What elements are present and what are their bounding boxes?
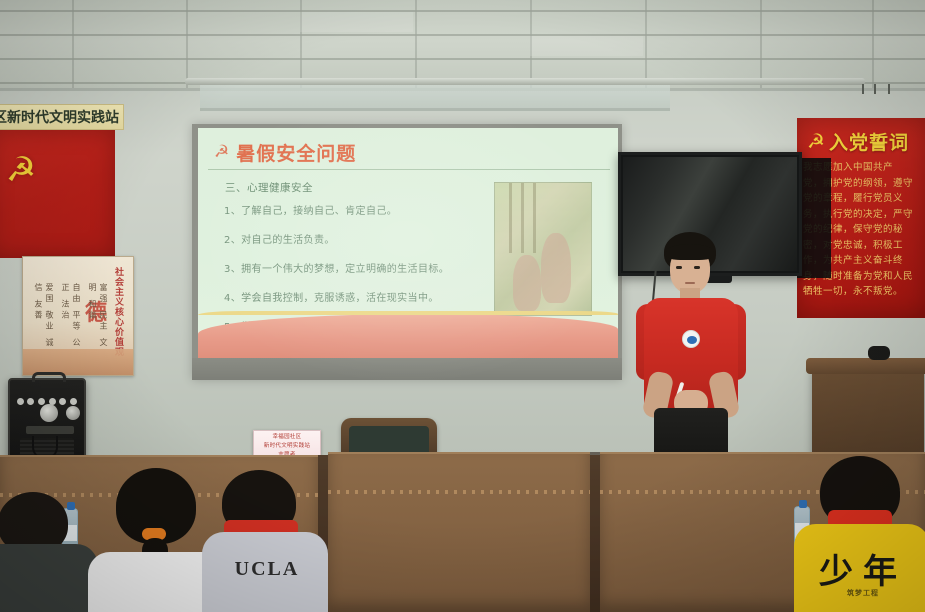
core-values-columns: 富强 民主 文明 和谐 自由 平等 公正 法治 爱国 敬业 诚信 友善: [33, 283, 109, 353]
slide-bullet: 4、学会自我控制，克服诱惑，活在现实当中。: [224, 289, 500, 304]
curtain-rail: [185, 78, 865, 85]
speaker-display: [26, 426, 74, 434]
presenter-eye-left: [676, 266, 682, 269]
slide-bullet: 1、了解自己，接纳自己、肯定自己。: [224, 202, 500, 217]
photo-scene: 区新时代文明实践站 ☭ 社会主义核心价值观 德 富强 民主 文明 和谐 自由 平…: [0, 0, 925, 612]
window-valance: [200, 85, 670, 111]
presentation-slide: ☭ 暑假安全问题 三、心理健康安全 1、了解自己，接纳自己、肯定自己。 2、对自…: [198, 128, 618, 358]
presenter-eye-right: [694, 266, 700, 269]
lectern-top: [806, 358, 925, 374]
slide-title: 暑假安全问题: [236, 139, 356, 166]
presenter: [630, 232, 752, 462]
shirt-text: 少年: [798, 544, 925, 593]
slide-photo: [494, 182, 592, 316]
community-station-sign-text: 区新时代文明实践站: [0, 107, 119, 127]
party-flag-icon: ☭: [214, 144, 229, 161]
slide-bullet: 3、拥有一个伟大的梦想，定立明确的生活目标。: [224, 260, 500, 275]
screen-bottom-bar: [192, 358, 622, 380]
student-body: [0, 544, 98, 612]
core-values-poster: 社会主义核心价值观 德 富强 民主 文明 和谐 自由 平等 公正 法治 爱国 敬…: [22, 256, 134, 376]
table-sign-line: 新时代文明实践站: [264, 441, 310, 449]
slide-title-row: ☭ 暑假安全问题: [214, 138, 604, 166]
speaker-handle: [32, 372, 66, 382]
community-station-sign: 区新时代文明实践站: [0, 104, 124, 130]
presenter-fringe: [666, 244, 714, 260]
bench-row-center: [328, 452, 590, 612]
student-yellow-shaonian: 少年 筑梦工程: [798, 456, 925, 612]
projection-screen: ☭ 暑假安全问题 三、心理健康安全 1、了解自己，接纳自己、肯定自己。 2、对自…: [192, 124, 622, 380]
slide-decorative-band: [198, 314, 618, 358]
volunteer-logo-badge: [682, 330, 700, 348]
party-oath-banner: ☭ 入党誓词 我志愿加入中国共产 党，拥护党的纲领，遵守 党的章程，履行党员义 …: [797, 118, 925, 318]
hammer-sickle-icon: ☭: [4, 148, 38, 192]
student-ucla: UCLA: [204, 470, 330, 612]
oath-heading: ☭ 入党誓词: [807, 128, 925, 154]
table-sign-line: 幸福园社区: [272, 432, 301, 440]
slide-subtitle: 三、心理健康安全: [225, 180, 313, 195]
shirt-text: UCLA: [204, 558, 330, 581]
oath-line: 牺牲一切，永不叛党。: [803, 284, 925, 300]
speaker-tone-dial: [66, 406, 80, 420]
wooden-lectern: [812, 366, 924, 466]
hammer-sickle-icon: ☭: [807, 131, 825, 151]
shirt-subtext: 筑梦工程: [798, 588, 925, 598]
desktop-microphone: [868, 346, 890, 360]
core-values-column: 爱国 敬业 诚信 友善: [33, 283, 55, 353]
slide-bullet: 2、对自己的生活负责。: [224, 231, 500, 246]
core-values-column: 富强 民主 文明 和谐: [87, 283, 109, 353]
speaker-volume-dial: [40, 404, 58, 422]
slide-title-divider: [208, 169, 610, 170]
student-left-back: [0, 492, 100, 612]
oath-title: 入党誓词: [829, 128, 909, 155]
tv-edge-occlusion: [797, 158, 831, 278]
core-values-title: 社会主义核心价值观: [112, 267, 125, 357]
core-values-column: 自由 平等 公正 法治: [60, 283, 82, 353]
presenter-mouth: [685, 282, 695, 284]
curtain-hooks: [862, 84, 902, 96]
